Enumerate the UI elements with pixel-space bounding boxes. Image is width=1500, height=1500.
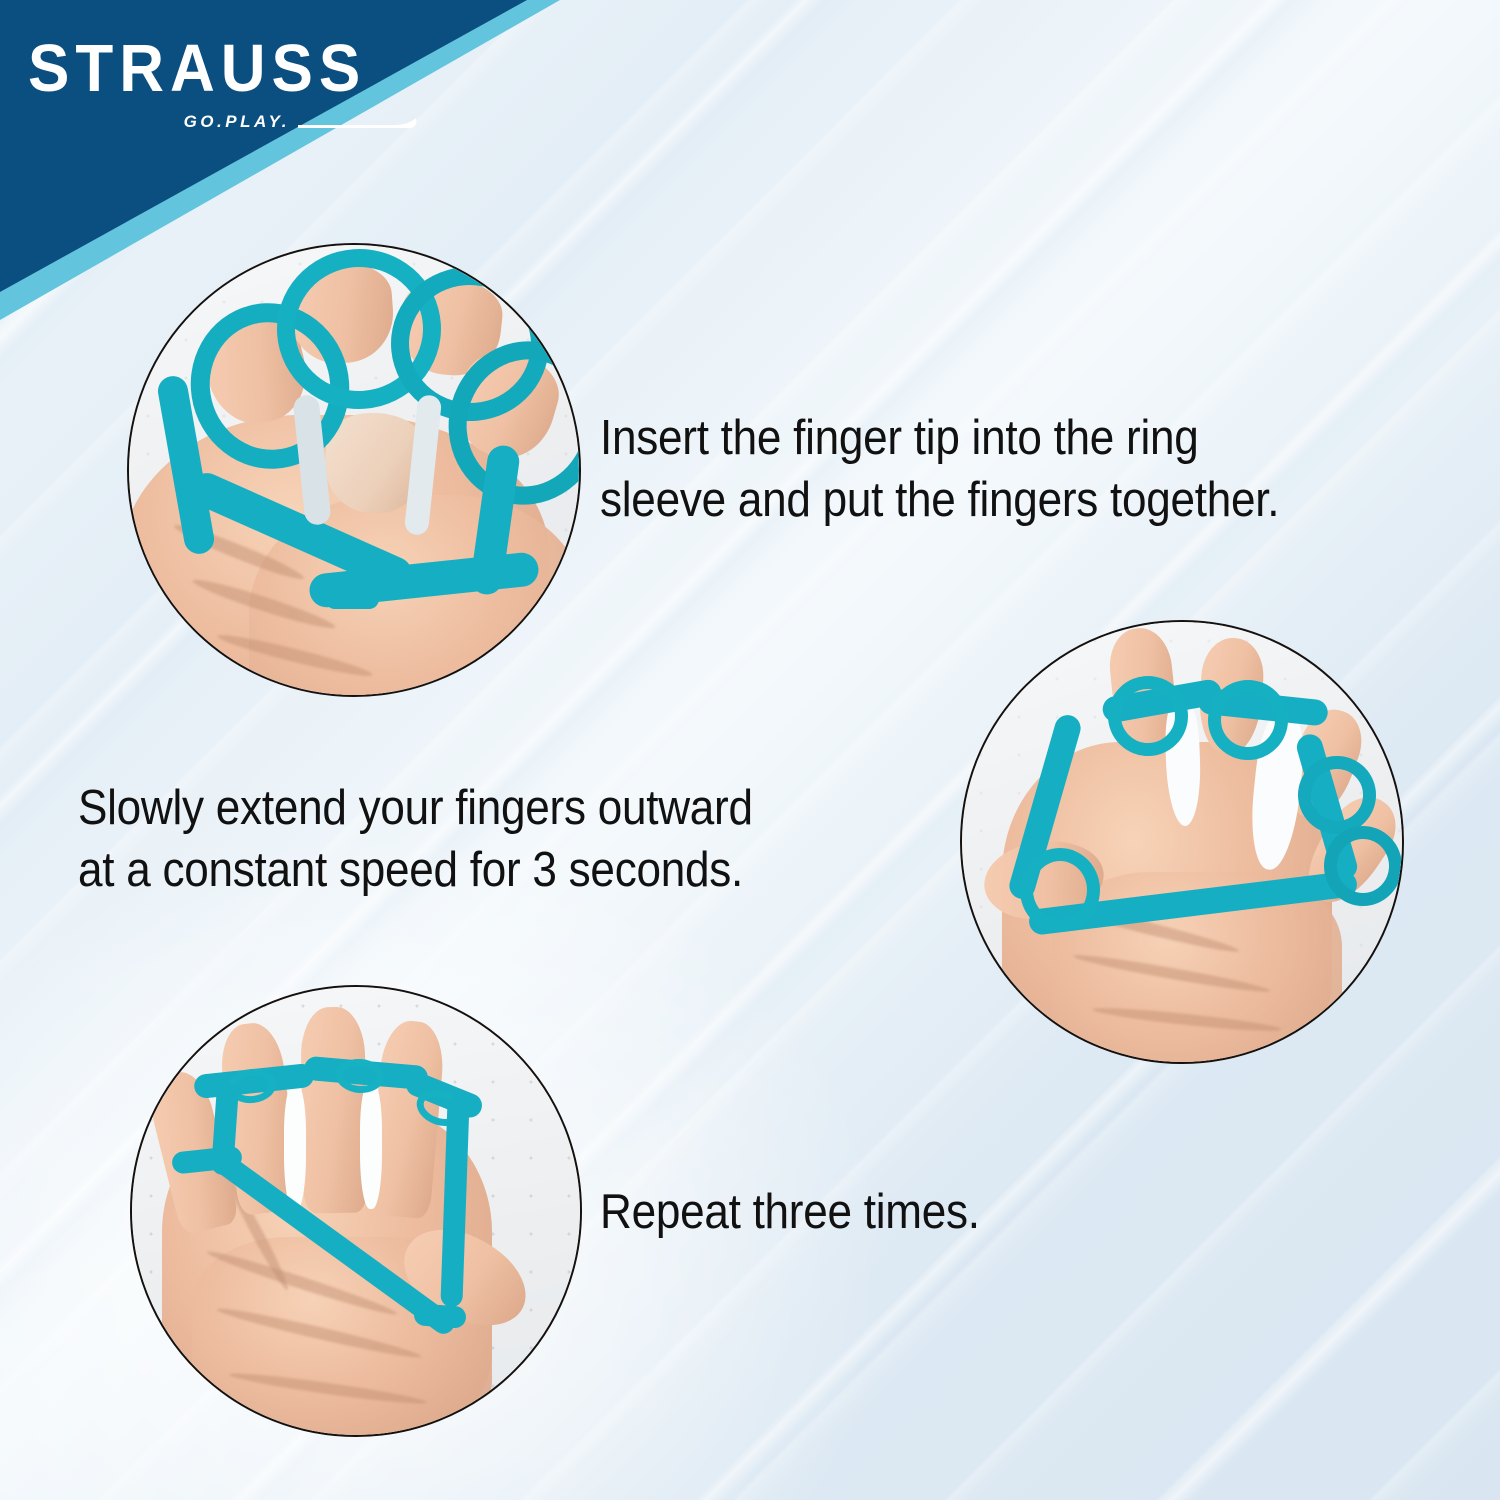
step-2-caption: Slowly extend your fingers outward at a … bbox=[78, 778, 996, 901]
brand-name: STRAUSS bbox=[28, 36, 428, 103]
brand-tagline-row: GO.PLAY. bbox=[28, 112, 418, 132]
step-1-caption: Insert the finger tip into the ring slee… bbox=[600, 408, 1500, 531]
strauss-logo: STRAUSS GO.PLAY. bbox=[28, 36, 428, 132]
open-palm-stretcher-photo bbox=[130, 985, 582, 1437]
strauss-swoosh-icon bbox=[298, 114, 418, 130]
hand-fingers-in-rings-photo bbox=[127, 243, 581, 697]
hand-fingers-extended-photo bbox=[960, 620, 1404, 1064]
step-3-caption: Repeat three times. bbox=[600, 1182, 1500, 1244]
product-instruction-infographic: STRAUSS GO.PLAY. bbox=[0, 0, 1500, 1500]
brand-tagline: GO.PLAY. bbox=[184, 112, 290, 132]
